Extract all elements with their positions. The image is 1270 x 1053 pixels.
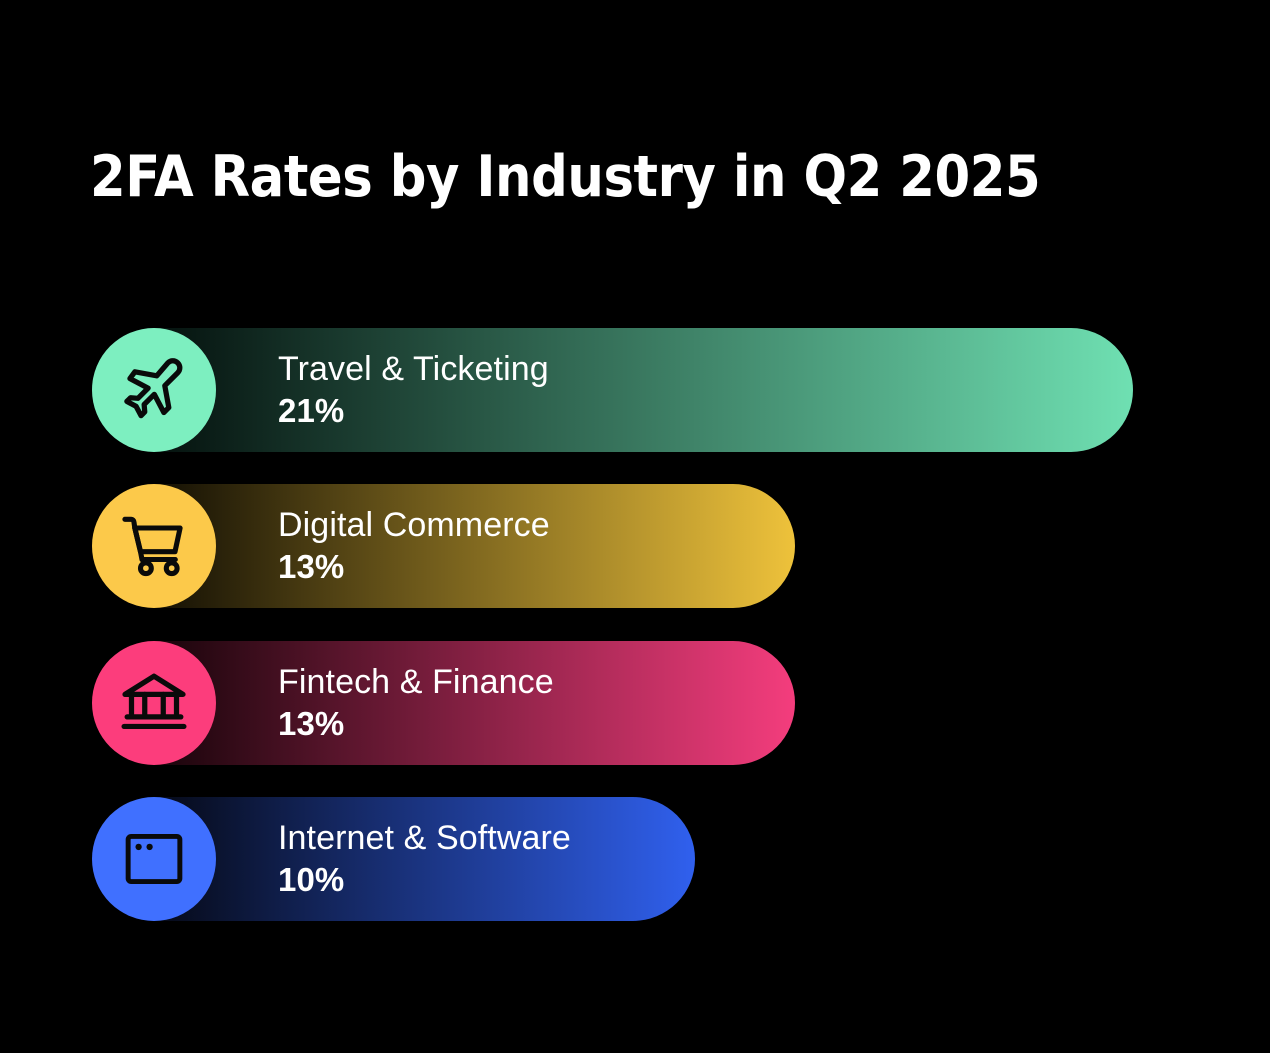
- category-icon-badge[interactable]: [92, 797, 216, 921]
- bar-track: [92, 328, 1133, 452]
- category-icon-badge[interactable]: [92, 328, 216, 452]
- category-icon-badge[interactable]: [92, 641, 216, 765]
- browser-window-icon: [121, 826, 187, 892]
- bar-row-travel-ticketing[interactable]: Travel & Ticketing 21%: [92, 328, 1133, 452]
- infographic-canvas: 2FA Rates by Industry in Q2 2025 Travel …: [0, 0, 1270, 1053]
- bank-icon: [117, 666, 191, 740]
- category-icon-badge[interactable]: [92, 484, 216, 608]
- bar-row-digital-commerce[interactable]: Digital Commerce 13%: [92, 484, 795, 608]
- bar-chart: Travel & Ticketing 21% Digit: [0, 0, 1270, 1053]
- bar-row-fintech-finance[interactable]: Fintech & Finance 13%: [92, 641, 795, 765]
- shopping-cart-icon: [118, 510, 190, 582]
- bar-row-internet-software[interactable]: Internet & Software 10%: [92, 797, 695, 921]
- airplane-icon: [117, 353, 191, 427]
